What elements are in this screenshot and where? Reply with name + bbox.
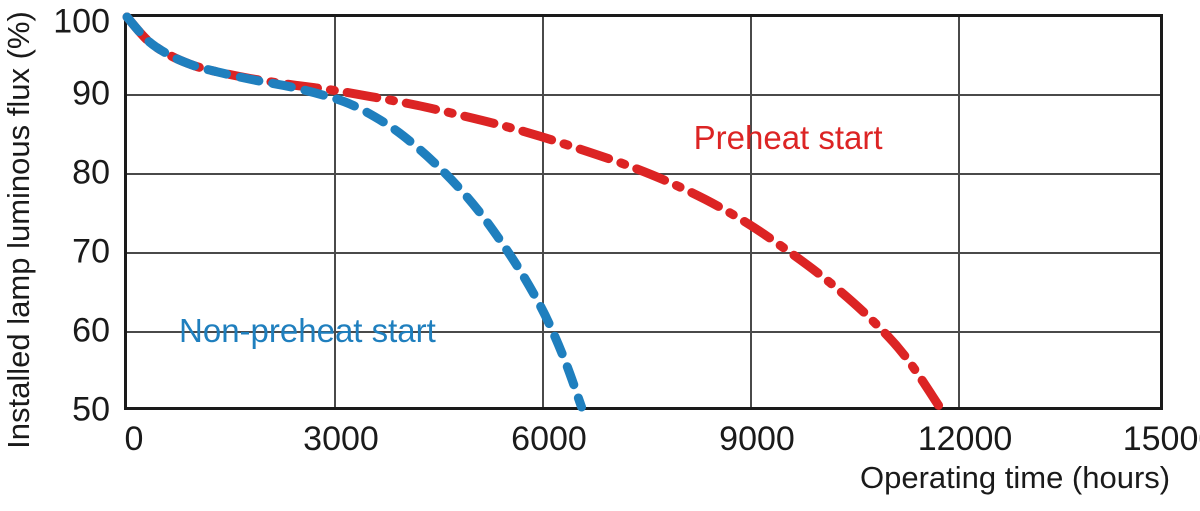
x-axis-title: Operating time (hours): [860, 460, 1170, 496]
luminous-flux-chart: Installed lamp luminous flux (%) 50 60 7…: [0, 0, 1200, 511]
y-tick-label-80: 80: [0, 154, 110, 193]
x-tick-label-3000: 3000: [251, 420, 431, 459]
y-tick-label-70: 70: [0, 233, 110, 272]
x-tick-label-9000: 9000: [667, 420, 847, 459]
series-label-preheat-start: Preheat start: [694, 119, 883, 157]
y-tick-label-100: 100: [0, 3, 110, 42]
x-tick-label-12000: 12000: [875, 420, 1055, 459]
series-label-non-preheat-start: Non-preheat start: [179, 312, 436, 350]
y-tick-label-90: 90: [0, 75, 110, 114]
plot-area: Preheat start Non-preheat start: [124, 14, 1163, 410]
x-tick-label-6000: 6000: [459, 420, 639, 459]
x-tick-label-15000: 15000: [1080, 420, 1200, 459]
y-tick-label-60: 60: [0, 312, 110, 351]
x-tick-label-0: 0: [44, 420, 224, 459]
